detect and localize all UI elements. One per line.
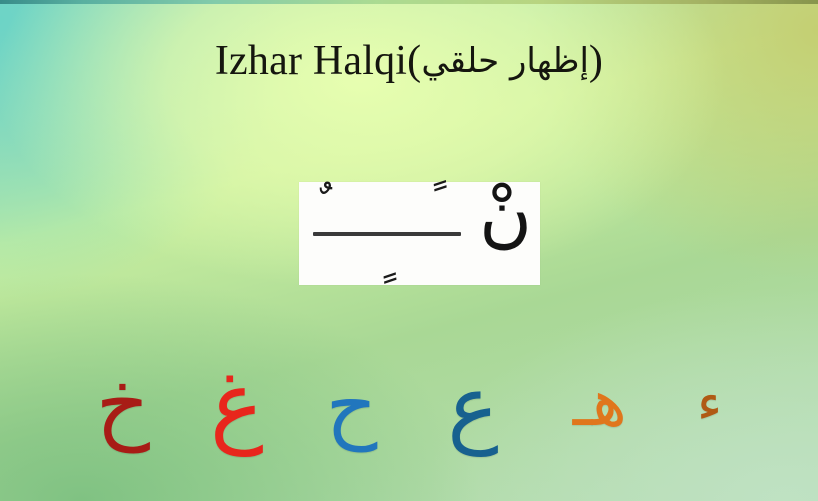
izhar-letter-ha: هـ — [573, 370, 627, 436]
title-open-paren: ( — [407, 38, 421, 84]
izhar-letter-ain: ع — [447, 364, 498, 450]
izhar-letters-row: ءهـعحغخ — [0, 326, 818, 446]
title-latin-text: Izhar Halqi — [215, 38, 407, 84]
noon-sakin-card: نْ ٌ ً ٍ — [299, 182, 540, 285]
title-arabic-text: إظهار حلقي — [421, 41, 589, 81]
izhar-letter-khaa: خ — [96, 362, 150, 446]
tanween-kasratan-glyph: ٍ — [375, 238, 380, 282]
izhar-letter-ghain: غ — [210, 360, 264, 450]
slide-canvas: Izhar Halqi(إظهار حلقي) نْ ٌ ً ٍ ءهـعحغخ — [0, 0, 818, 501]
title-close-paren: ) — [589, 38, 603, 84]
izhar-letter-hamza: ء — [697, 376, 722, 430]
tanween-fathatan-glyph: ً — [429, 182, 434, 226]
noon-sakin-glyph: نْ — [479, 178, 532, 250]
izhar-letter-haa: ح — [326, 366, 378, 446]
top-gradient-strip — [0, 0, 818, 4]
horizontal-rule-divider — [313, 232, 461, 236]
page-title: Izhar Halqi(إظهار حلقي) — [0, 40, 818, 82]
